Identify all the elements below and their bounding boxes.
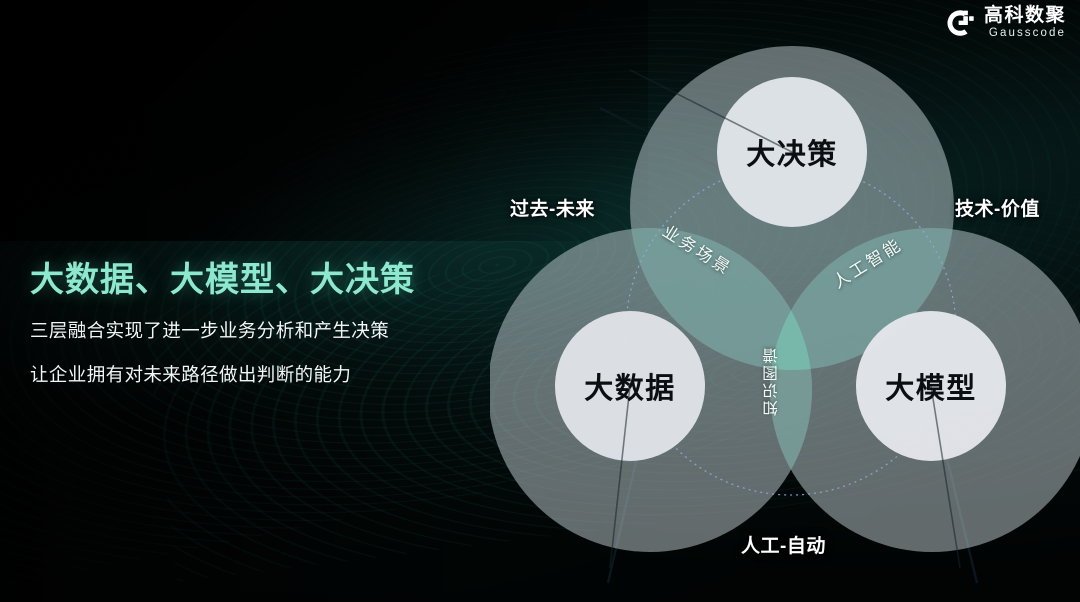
brand-name-cn: 高科数聚 (984, 6, 1066, 25)
slide-canvas: 高科数聚 Gausscode 大数据、大模型、大决策 三层融合实现了进一步业务分… (0, 0, 1080, 602)
axis-label-past-future: 过去-未来 (510, 194, 595, 221)
subtitle-line-2: 让企业拥有对未来路径做出判断的能力 (30, 366, 415, 385)
axis-label-manual-auto: 人工-自动 (741, 531, 826, 558)
gausscode-g-mark-icon (945, 8, 975, 38)
venn-overlap-label-knowledge-graph: 知识图谱 (761, 346, 783, 416)
page-title: 大数据、大模型、大决策 (30, 252, 415, 301)
brand-logo: 高科数聚 Gausscode (945, 6, 1066, 40)
venn-label-decision: 大决策 (746, 131, 838, 173)
venn-label-bigdata: 大数据 (584, 365, 676, 407)
subtitle-line-1: 三层融合实现了进一步业务分析和产生决策 (30, 322, 415, 341)
venn-label-bigmodel: 大模型 (885, 365, 977, 407)
axis-label-tech-value: 技术-价值 (955, 194, 1040, 221)
venn-diagram (490, 8, 1080, 602)
brand-name-en: Gausscode (984, 28, 1066, 40)
lead-text-block: 大数据、大模型、大决策 三层融合实现了进一步业务分析和产生决策 让企业拥有对未来… (30, 252, 415, 384)
brand-name: 高科数聚 Gausscode (984, 6, 1066, 40)
